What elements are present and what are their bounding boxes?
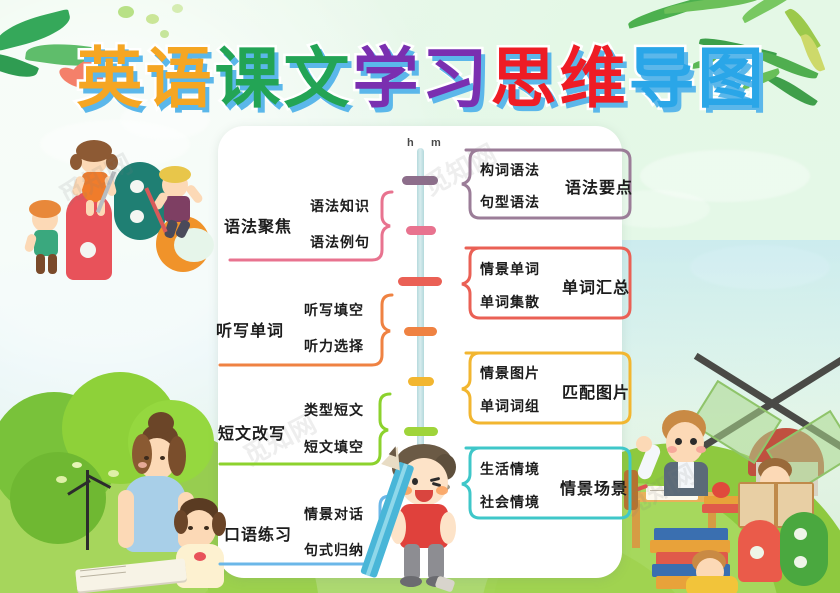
branch-label-sub: 短文填空	[304, 437, 364, 457]
branch-label-sub: 语法知识	[310, 196, 370, 216]
title-char: 学	[353, 46, 419, 112]
branch-label-sub: 情景图片	[480, 363, 540, 383]
title-char: 文	[284, 46, 350, 112]
branch-label-main: 语法聚焦	[224, 213, 292, 237]
title-char: 习	[422, 46, 488, 112]
mindmap-poster: 英 语 课 文 学 习 思 维 导 图 觅知网 觅知网 觅知网 觅知网 h m …	[0, 0, 840, 593]
spine-rung	[398, 277, 442, 286]
page-title: 英 语 课 文 学 习 思 维 导 图	[0, 38, 840, 120]
title-char: 导	[629, 46, 695, 112]
title-char: 课	[215, 46, 281, 112]
spine-label-left: h	[407, 137, 414, 149]
branch-label-sub: 单词词组	[480, 396, 540, 416]
branch-label-main: 口语练习	[224, 521, 292, 545]
branch-label-sub: 单词集散	[480, 292, 540, 312]
branch-label-main: 听写单词	[216, 317, 284, 341]
branch-label-main: 短文改写	[218, 420, 286, 444]
spine-rung	[408, 377, 434, 386]
title-char: 图	[698, 46, 764, 112]
title-char: 思	[491, 46, 557, 112]
branch-label-sub: 听力选择	[304, 336, 364, 356]
boy-with-pencil	[372, 440, 492, 590]
center-spine	[417, 148, 424, 488]
branch-label-sub: 句型语法	[480, 192, 540, 212]
spine-label-right: m	[431, 137, 441, 149]
branch-label-main: 语法要点	[565, 174, 633, 198]
branch-label-sub: 听写填空	[304, 300, 364, 320]
branch-label-sub: 类型短文	[304, 400, 364, 420]
title-char: 英	[77, 46, 143, 112]
branch-label-sub: 语法例句	[310, 232, 370, 252]
branch-label-main: 情景场景	[560, 475, 628, 499]
title-char: 语	[146, 46, 212, 112]
branch-label-sub: 句式归纳	[304, 540, 364, 560]
branch-label-sub: 情景单词	[480, 259, 540, 279]
branch-label-main: 单词汇总	[562, 274, 630, 298]
branch-label-sub: 构词语法	[480, 160, 540, 180]
branch-label-main: 匹配图片	[562, 379, 630, 403]
branch-label-sub: 情景对话	[304, 504, 364, 524]
title-char: 维	[560, 46, 626, 112]
watermark: 觅知网	[52, 144, 138, 213]
